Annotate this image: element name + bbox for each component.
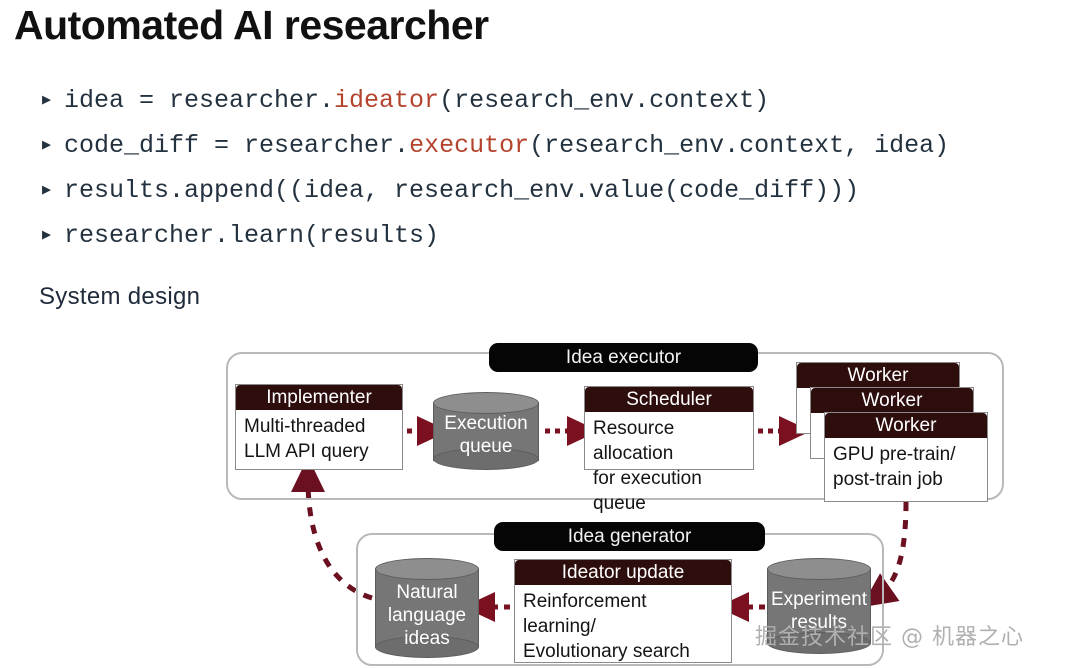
code-segment-pre: code_diff = researcher. xyxy=(64,131,409,160)
code-segment-highlight: ideator xyxy=(334,86,439,115)
group-title-idea-executor: Idea executor xyxy=(489,343,758,372)
code-line: ▶ code_diff = researcher.executor(resear… xyxy=(38,123,1058,168)
code-segment-pre: results.append((idea, research_env.value… xyxy=(64,176,859,205)
node-ideator-update[interactable]: Ideator update Reinforcement learning/ E… xyxy=(514,559,732,663)
cylinder-execution-queue[interactable]: Execution queue xyxy=(433,392,539,470)
node-body-ideator-update: Reinforcement learning/ Evolutionary sea… xyxy=(515,585,731,669)
node-header-worker-front: Worker xyxy=(825,413,987,438)
node-body-scheduler: Resource allocation for execution queue xyxy=(585,412,753,521)
node-implementer[interactable]: Implementer Multi-threaded LLM API query xyxy=(235,384,403,470)
group-title-idea-generator: Idea generator xyxy=(494,522,765,551)
cylinder-label-natural-language-ideas: Natural language ideas xyxy=(375,581,479,650)
code-segment-post: (research_env.context) xyxy=(439,86,769,115)
code-line: ▶ researcher.learn(results) xyxy=(38,213,1058,258)
node-header-implementer: Implementer xyxy=(236,385,402,410)
section-label-system-design: System design xyxy=(39,283,200,311)
node-body-implementer: Multi-threaded LLM API query xyxy=(236,410,402,469)
page-title: Automated AI researcher xyxy=(14,2,489,49)
code-segment-pre: researcher.learn(results) xyxy=(64,221,439,250)
code-line: ▶ results.append((idea, research_env.val… xyxy=(38,168,1058,213)
node-header-worker-middle: Worker xyxy=(811,388,973,413)
node-header-ideator-update: Ideator update xyxy=(515,560,731,585)
code-bullet-list: ▶ idea = researcher.ideator(research_env… xyxy=(38,78,1058,258)
node-body-worker-front: GPU pre-train/ post-train job xyxy=(825,438,987,497)
bullet-marker-icon: ▶ xyxy=(38,183,64,198)
code-segment-pre: idea = researcher. xyxy=(64,86,334,115)
watermark: 掘金技术社区 @ 机器之心 xyxy=(755,619,1024,651)
node-worker-front[interactable]: Worker GPU pre-train/ post-train job xyxy=(824,412,988,502)
code-segment-post: (research_env.context, idea) xyxy=(529,131,949,160)
code-line: ▶ idea = researcher.ideator(research_env… xyxy=(38,78,1058,123)
node-header-scheduler: Scheduler xyxy=(585,387,753,412)
cylinder-natural-language-ideas[interactable]: Natural language ideas xyxy=(375,558,479,658)
node-scheduler[interactable]: Scheduler Resource allocation for execut… xyxy=(584,386,754,470)
cylinder-top-ellipse xyxy=(375,558,479,580)
bullet-marker-icon: ▶ xyxy=(38,228,64,243)
code-segment-highlight: executor xyxy=(409,131,529,160)
cylinder-top-ellipse xyxy=(767,558,871,580)
slide-canvas: Automated AI researcher ▶ idea = researc… xyxy=(0,0,1080,669)
node-header-worker-back: Worker xyxy=(797,363,959,388)
cylinder-top-ellipse xyxy=(433,392,539,414)
cylinder-label-execution-queue: Execution queue xyxy=(433,412,539,458)
bullet-marker-icon: ▶ xyxy=(38,93,64,108)
bullet-marker-icon: ▶ xyxy=(38,138,64,153)
